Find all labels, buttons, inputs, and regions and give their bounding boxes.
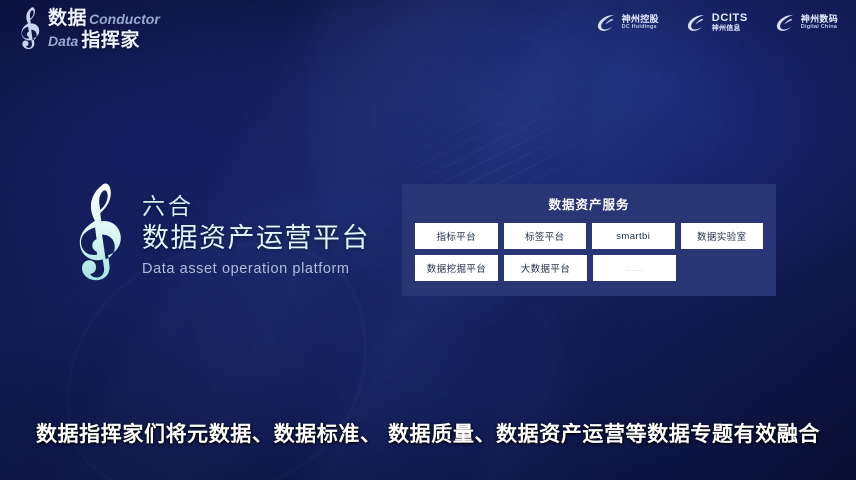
- partner-name-en: DC Holdings: [622, 25, 659, 31]
- brand-line-2: Data 指挥家: [48, 31, 160, 50]
- service-card-dashuju-pingtai[interactable]: 大数据平台: [504, 255, 587, 281]
- partner-logo-bar: 神州控股 DC Holdings DCITS 神州信息: [595, 12, 838, 34]
- service-card-row-1: 指标平台 标签平台 smartbi 数据实验室: [415, 223, 763, 249]
- swoosh-logo-icon: [774, 12, 796, 34]
- partner-logo-digital-china: 神州数码 Digital China: [774, 12, 838, 34]
- hero-text-group: 六合 数据资产运营平台 Data asset operation platfor…: [142, 193, 370, 277]
- swoosh-logo-icon: [685, 12, 707, 34]
- service-card-smartbi[interactable]: smartbi: [592, 223, 675, 249]
- service-card-shuju-shiyanshi[interactable]: 数据实验室: [681, 223, 764, 249]
- brand-line2-en: Data: [48, 34, 78, 48]
- partner-label-group: 神州数码 Digital China: [801, 15, 838, 31]
- panel-title: 数据资产服务: [415, 194, 763, 213]
- partner-name-cn: DCITS: [712, 13, 748, 25]
- service-card-zhibiao-pingtai[interactable]: 指标平台: [415, 223, 498, 249]
- partner-name-en: Digital China: [801, 25, 838, 31]
- partner-label-group: DCITS 神州信息: [712, 13, 748, 32]
- hero-title-block: 六合 数据资产运营平台 Data asset operation platfor…: [64, 182, 370, 288]
- data-asset-service-panel: 数据资产服务 指标平台 标签平台 smartbi 数据实验室 数据挖掘平台 大数…: [402, 184, 776, 296]
- slide-canvas: 数据 Conductor Data 指挥家 神州控股 DC Holdings: [0, 0, 856, 480]
- service-card-shuju-wajue-pingtai[interactable]: 数据挖掘平台: [415, 255, 498, 281]
- partner-label-group: 神州控股 DC Holdings: [622, 15, 659, 31]
- partner-name-en: 神州信息: [712, 25, 748, 33]
- brand-line1-cn: 数据: [48, 9, 87, 28]
- service-card-biaoqian-pingtai[interactable]: 标签平台: [504, 223, 587, 249]
- hero-title-small: 六合: [142, 193, 370, 219]
- brand-line2-cn: 指挥家: [81, 31, 140, 50]
- partner-logo-dcits: DCITS 神州信息: [685, 12, 748, 34]
- service-card-more[interactable]: ......: [593, 255, 676, 281]
- treble-clef-icon: [14, 6, 44, 52]
- hero-subtitle-en: Data asset operation platform: [142, 261, 370, 277]
- slide-caption: 数据指挥家们将元数据、数据标准、 数据质量、数据资产运营等数据专题有效融合: [0, 418, 856, 448]
- hero-title-main: 数据资产运营平台: [142, 221, 370, 256]
- brand-line1-en: Conductor: [89, 12, 160, 26]
- partner-logo-dc-holdings: 神州控股 DC Holdings: [595, 12, 659, 34]
- treble-clef-icon: [64, 182, 130, 288]
- swoosh-logo-icon: [595, 12, 617, 34]
- brand-line-1: 数据 Conductor: [48, 9, 160, 28]
- brand-logo: 数据 Conductor Data 指挥家: [14, 6, 160, 52]
- brand-wordmark: 数据 Conductor Data 指挥家: [48, 9, 160, 50]
- service-card-row-2: 数据挖掘平台 大数据平台 ......: [415, 255, 763, 281]
